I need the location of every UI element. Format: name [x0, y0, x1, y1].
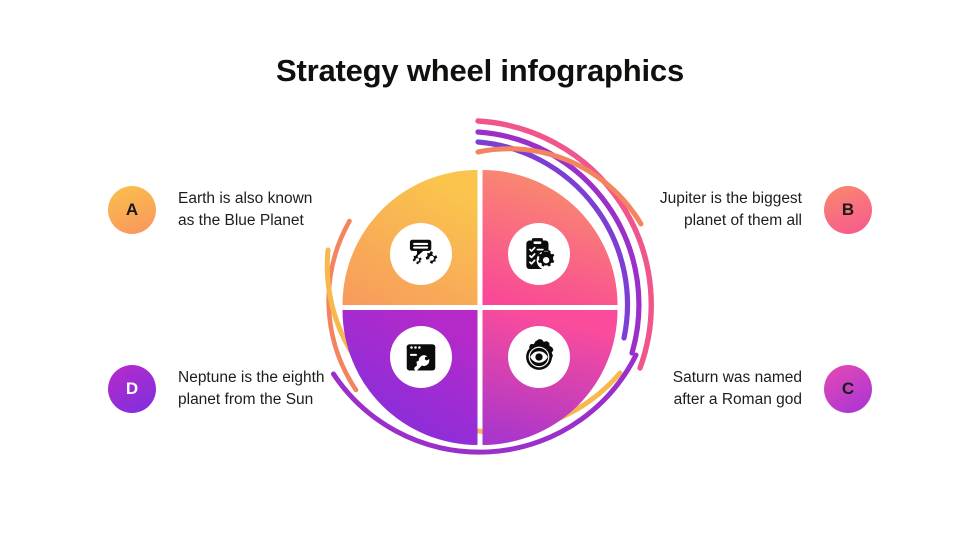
gear-eye-icon[interactable] — [508, 326, 570, 388]
callout-a[interactable]: A Earth is also known as the Blue Planet — [108, 186, 328, 234]
browser-wrench-icon[interactable] — [390, 326, 452, 388]
callout-text-c: Saturn was named after a Roman god — [652, 367, 802, 412]
wheel-graphic — [300, 100, 660, 490]
slide-canvas: Strategy wheel infographics — [0, 0, 960, 540]
callout-marker-b: B — [824, 186, 872, 234]
callout-c[interactable]: Saturn was named after a Roman god C — [652, 365, 872, 413]
callout-d[interactable]: D Neptune is the eighth planet from the … — [108, 365, 328, 413]
callout-b[interactable]: Jupiter is the biggest planet of them al… — [652, 186, 872, 234]
clipboard-gear-icon[interactable] — [508, 223, 570, 285]
callout-text-b: Jupiter is the biggest planet of them al… — [652, 188, 802, 233]
chat-gears-icon[interactable] — [390, 223, 452, 285]
strategy-wheel — [300, 100, 660, 490]
callout-marker-a: A — [108, 186, 156, 234]
callout-text-d: Neptune is the eighth planet from the Su… — [178, 367, 328, 412]
callout-marker-d: D — [108, 365, 156, 413]
callout-text-a: Earth is also known as the Blue Planet — [178, 188, 328, 233]
page-title: Strategy wheel infographics — [0, 50, 960, 92]
callout-marker-c: C — [824, 365, 872, 413]
